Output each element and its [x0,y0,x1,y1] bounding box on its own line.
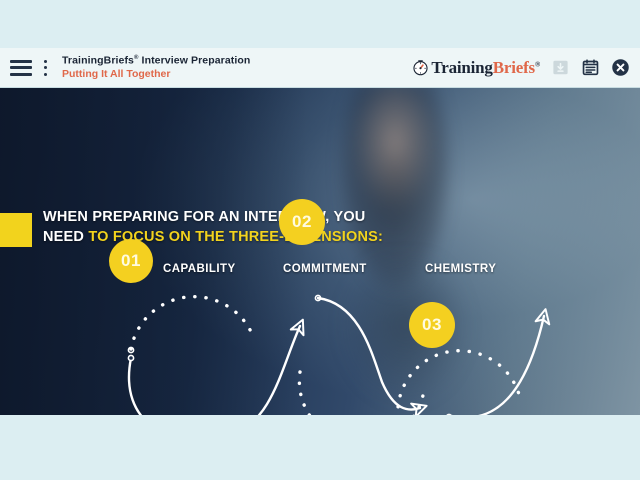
header-right-group: TrainingBriefs® [412,58,640,77]
stopwatch-icon [412,59,429,76]
logo-wordmark: TrainingBriefs® [431,59,540,76]
course-subtitle: Putting It All Together [62,69,250,80]
header-titles: TrainingBriefs® Interview Preparation Pu… [62,55,250,80]
trainingbriefs-logo: TrainingBriefs® [412,59,540,76]
notes-icon[interactable] [581,58,600,77]
kebab-menu-icon[interactable] [40,60,50,76]
node-label-chemistry: CHEMISTRY [425,263,496,275]
connector-dot-01-bottom [128,355,133,360]
logo-word-training: Training [431,58,492,77]
node-label-capability: CAPABILITY [163,263,236,275]
node-circle-01[interactable]: 01 [109,239,153,283]
node-circle-02[interactable]: 02 [279,199,325,245]
close-icon[interactable] [611,58,630,77]
logo-word-briefs: Briefs [493,58,535,77]
dotted-arc-capability [131,297,253,349]
course-title-brand: TrainingBriefs [62,55,134,67]
solid-path-01-to-02 [129,326,300,415]
player-header: TrainingBriefs® Interview Preparation Pu… [0,48,640,88]
slide-video-area[interactable]: WHEN PREPARING FOR AN INTERVIEW, YOU NEE… [0,88,640,415]
solid-path-02-to-03 [318,298,420,410]
logo-registered-mark: ® [535,60,540,68]
node-label-commitment: COMMITMENT [283,263,367,275]
course-title: TrainingBriefs® Interview Preparation [62,55,250,66]
connector-dot-03 [446,414,451,415]
header-left-group: TrainingBriefs® Interview Preparation Pu… [0,55,250,80]
course-title-rest: Interview Preparation [139,55,251,67]
hamburger-icon[interactable] [10,60,32,76]
player-stage: TrainingBriefs® Interview Preparation Pu… [0,0,640,480]
download-icon[interactable] [551,58,570,77]
node-circle-03[interactable]: 03 [409,302,455,348]
